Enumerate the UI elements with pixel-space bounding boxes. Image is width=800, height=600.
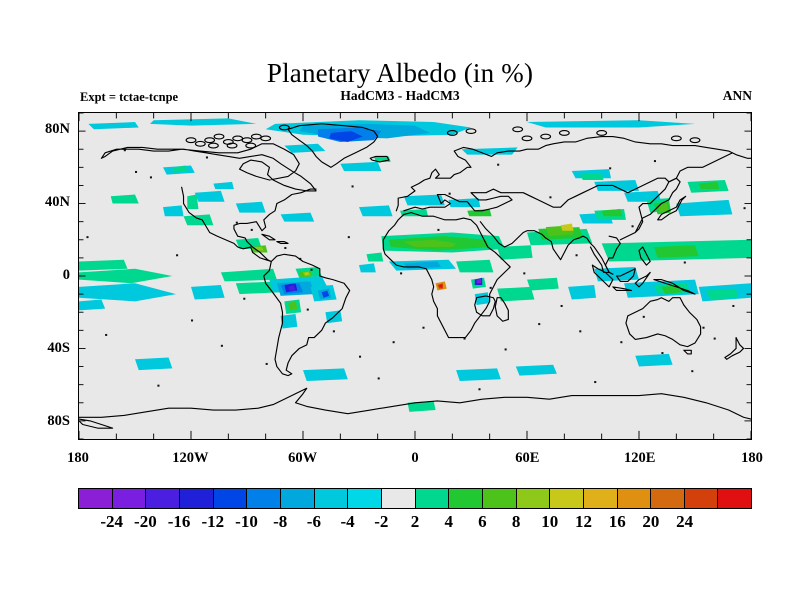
coastline (277, 242, 288, 244)
y-tick-label-0: 80N (20, 121, 70, 138)
grid-speckle (561, 305, 563, 307)
island-outline (233, 136, 243, 141)
coastline (383, 213, 510, 338)
grid-speckle (744, 207, 746, 209)
anomaly-patch (281, 213, 315, 222)
anomaly-patch (456, 368, 501, 381)
anomaly-patch (527, 278, 559, 291)
data-fill-layer (79, 118, 751, 411)
island-outline (186, 138, 196, 143)
grid-speckle (576, 254, 578, 256)
grid-speckle (661, 352, 663, 354)
colorbar-cell-15[interactable] (584, 489, 618, 508)
anomaly-patch (676, 200, 732, 216)
anomaly-patch (654, 245, 699, 258)
colorbar-tick-17: 24 (657, 512, 713, 532)
grid-speckle (352, 185, 354, 187)
island-outline (209, 143, 219, 148)
grid-speckle (150, 176, 152, 178)
anomaly-patch (449, 198, 481, 207)
anomaly-patch (191, 285, 225, 299)
colorbar-cell-7[interactable] (315, 489, 349, 508)
coastline (626, 298, 701, 347)
colorbar-cell-14[interactable] (550, 489, 584, 508)
anomaly-patch (187, 195, 198, 209)
grid-speckle (236, 222, 238, 224)
season-label: ANN (723, 88, 752, 104)
anomaly-patch (303, 368, 348, 381)
colorbar-cell-8[interactable] (348, 489, 382, 508)
coastline (262, 234, 275, 239)
coastline (101, 144, 316, 191)
colorbar-cell-6[interactable] (281, 489, 315, 508)
grid-speckle (105, 334, 107, 336)
grid-speckle (549, 196, 551, 198)
anomaly-patch (568, 285, 596, 299)
colorbar-cell-13[interactable] (517, 489, 551, 508)
x-tick-label-6: 180 (722, 450, 782, 467)
y-tick-label-4: 80S (20, 413, 70, 430)
anomaly-patch (79, 283, 176, 301)
anomaly-patch (359, 263, 376, 272)
grid-speckle (284, 247, 286, 249)
grid-speckle (422, 327, 424, 329)
y-tick-label-3: 40S (20, 340, 70, 357)
island-outline (251, 134, 261, 139)
anomaly-patch (456, 260, 493, 273)
grid-speckle (157, 385, 159, 387)
grid-speckle (221, 345, 223, 347)
x-tick-label-0: 180 (48, 450, 108, 467)
y-tick-label-1: 40N (20, 194, 70, 211)
anomaly-patch (213, 182, 234, 189)
grid-speckle (490, 287, 492, 289)
anomaly-patch (497, 245, 532, 259)
model-comparison-label: HadCM3 - HadCM3 (0, 88, 800, 104)
anomaly-patch (602, 209, 623, 216)
colorbar-cell-4[interactable] (214, 489, 248, 508)
anomaly-patch (88, 122, 138, 129)
x-tick-label-5: 120E (610, 450, 670, 467)
colorbar-cell-17[interactable] (651, 489, 685, 508)
anomaly-patch (404, 195, 445, 206)
island-outline (261, 136, 271, 141)
colorbar-cell-16[interactable] (618, 489, 652, 508)
grid-speckle (400, 272, 402, 274)
anomaly-patch (467, 209, 491, 216)
anomaly-patch (79, 260, 128, 271)
island-outline (195, 141, 205, 146)
anomaly-patch (195, 191, 225, 202)
x-tick-label-3: 0 (385, 450, 445, 467)
anomaly-patch (281, 314, 298, 328)
anomaly-patch (184, 214, 214, 225)
colorbar-cell-12[interactable] (483, 489, 517, 508)
island-outline (522, 136, 532, 141)
grid-speckle (609, 167, 611, 169)
anomaly-patch (163, 205, 184, 216)
axis-tick-layer (79, 113, 751, 439)
grid-speckle (523, 272, 525, 274)
island-outline (246, 143, 256, 148)
grid-speckle (348, 236, 350, 238)
y-tick-label-2: 0 (20, 267, 70, 284)
grid-speckle (206, 156, 208, 158)
island-outline (559, 131, 569, 136)
island-outline (205, 138, 215, 143)
grid-speckle (620, 341, 622, 343)
anomaly-patch (359, 205, 393, 216)
grid-speckle (594, 381, 596, 383)
grid-speckle (478, 388, 480, 390)
grid-speckle (333, 330, 335, 332)
grid-speckle (654, 160, 656, 162)
grid-speckle (307, 309, 309, 311)
grid-speckle (266, 363, 268, 365)
grid-speckle (505, 348, 507, 350)
island-outline (242, 138, 252, 143)
island-outline (597, 131, 607, 136)
anomaly-patch (236, 202, 266, 213)
grid-speckle (310, 269, 312, 271)
grid-speckle (135, 171, 137, 173)
colorbar-cell-1[interactable] (113, 489, 147, 508)
grid-speckle (243, 298, 245, 300)
x-tick-label-2: 60W (273, 450, 333, 467)
colorbar-cell-0[interactable] (79, 489, 113, 508)
grid-speckle (497, 164, 499, 166)
grid-speckle (691, 370, 693, 372)
anomaly-patch (516, 365, 557, 376)
coastline (725, 338, 744, 360)
grid-speckle (714, 338, 716, 340)
island-outline (214, 134, 224, 139)
colorbar-cell-18[interactable] (685, 489, 719, 508)
anomaly-patch (284, 144, 325, 153)
grid-speckle (251, 229, 253, 231)
island-outline (690, 138, 700, 143)
anomaly-patch (150, 118, 256, 125)
island-outline (541, 134, 551, 139)
figure-title: Planetary Albedo (in %) (0, 58, 800, 89)
x-tick-label-1: 120W (160, 450, 220, 467)
figure-canvas: Planetary Albedo (in %) Expt = tctae-tcn… (0, 0, 800, 600)
world-map-svg (79, 113, 751, 439)
island-outline (671, 136, 681, 141)
anomaly-patch (366, 252, 383, 261)
colorbar-cell-3[interactable] (180, 489, 214, 508)
anomaly-patch (221, 269, 277, 282)
grid-speckle (393, 341, 395, 343)
grid-speckle (702, 327, 704, 329)
grid-speckle (732, 305, 734, 307)
grid-speckle (579, 330, 581, 332)
anomaly-patch (79, 300, 105, 311)
map-plot-area (78, 112, 752, 440)
grid-speckle (378, 377, 380, 379)
anomaly-patch (635, 354, 672, 367)
anomaly-patch (340, 162, 381, 171)
x-tick-label-4: 60E (497, 450, 557, 467)
grid-speckle (643, 316, 645, 318)
island-outline (513, 127, 523, 132)
grid-speckle (437, 229, 439, 231)
anomaly-patch (79, 269, 172, 283)
colorbar-cell-10[interactable] (416, 489, 450, 508)
colorbar-cell-11[interactable] (449, 489, 483, 508)
colorbar-cell-5[interactable] (247, 489, 281, 508)
anomaly-patch (135, 358, 172, 371)
anomaly-patch (111, 195, 139, 204)
colorbar[interactable] (78, 488, 752, 509)
anomaly-patch (706, 289, 738, 300)
colorbar-cell-19[interactable] (718, 489, 751, 508)
anomaly-patch (497, 287, 534, 301)
grid-speckle (86, 236, 88, 238)
colorbar-cell-2[interactable] (146, 489, 180, 508)
island-outline (466, 129, 476, 134)
grid-speckle (176, 254, 178, 256)
grid-speckle (632, 225, 634, 227)
grid-speckle (684, 262, 686, 264)
coastline (684, 350, 691, 354)
colorbar-cell-9[interactable] (382, 489, 416, 508)
grid-speckle (449, 193, 451, 195)
anomaly-patch (561, 223, 574, 230)
grid-speckle (538, 323, 540, 325)
grid-speckle (191, 319, 193, 321)
anomaly-patch (527, 120, 695, 127)
grid-speckle (359, 356, 361, 358)
anomaly-patch (475, 292, 490, 305)
